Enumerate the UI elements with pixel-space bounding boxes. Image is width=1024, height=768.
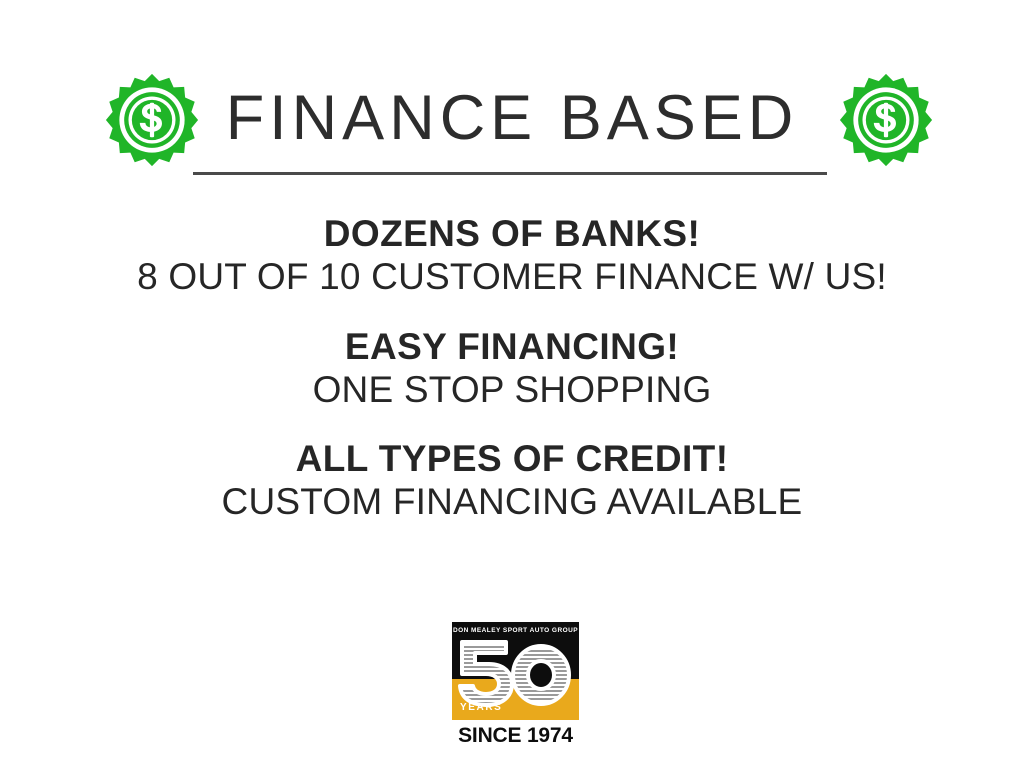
copy-block-credit: ALL TYPES OF CREDIT! CUSTOM FINANCING AV…	[0, 437, 1024, 524]
logo-mark: DON MEALEY SPORT AUTO GROUP	[452, 622, 579, 720]
copy-subline: ONE STOP SHOPPING	[0, 368, 1024, 411]
copy-subline: CUSTOM FINANCING AVAILABLE	[0, 480, 1024, 523]
logo-years-label: YEARS	[460, 702, 502, 713]
logo-group-name: DON MEALEY SPORT AUTO GROUP	[452, 627, 579, 634]
copy-block-financing: EASY FINANCING! ONE STOP SHOPPING	[0, 325, 1024, 412]
title-divider	[193, 172, 827, 175]
logo-since-label: SINCE 1974	[452, 724, 579, 748]
copy-subline: 8 OUT OF 10 CUSTOMER FINANCE W/ US!	[0, 255, 1024, 298]
copy-headline: ALL TYPES OF CREDIT!	[0, 437, 1024, 480]
slide-canvas: FINANCE BASED DOZENS OF BANKS! 8 OUT	[0, 0, 1024, 768]
copy-headline: EASY FINANCING!	[0, 325, 1024, 368]
dealer-anniversary-logo: DON MEALEY SPORT AUTO GROUP	[452, 622, 579, 748]
gear-dollar-icon	[838, 72, 934, 168]
slide-header: FINANCE BASED	[0, 72, 1024, 182]
copy-headline: DOZENS OF BANKS!	[0, 212, 1024, 255]
body-copy: DOZENS OF BANKS! 8 OUT OF 10 CUSTOMER FI…	[0, 212, 1024, 524]
copy-block-banks: DOZENS OF BANKS! 8 OUT OF 10 CUSTOMER FI…	[0, 212, 1024, 299]
logo-fifty-numeral	[452, 634, 579, 708]
